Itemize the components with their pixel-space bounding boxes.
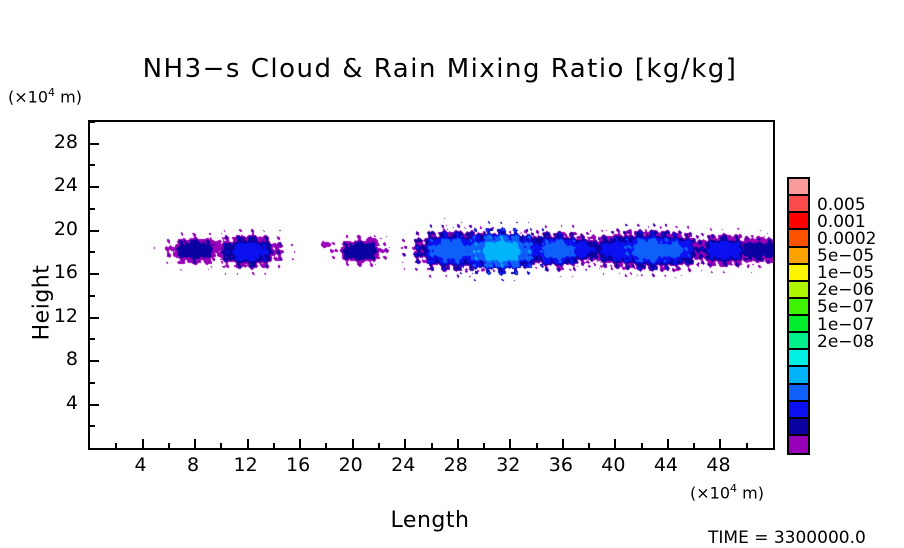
x-tick-label: 44: [646, 454, 686, 476]
x-tick: [614, 439, 616, 448]
y-tick: [90, 360, 99, 362]
x-tick-minor: [746, 443, 748, 448]
colorbar-band: [789, 367, 808, 384]
x-tick: [142, 439, 144, 448]
colorbar-band: [789, 230, 808, 247]
y-tick-label: 4: [32, 392, 78, 414]
x-tick-minor: [325, 443, 327, 448]
x-tick-minor: [115, 443, 117, 448]
x-tick-label: 48: [698, 454, 738, 476]
x-tick-minor: [378, 443, 380, 448]
y-tick-label: 12: [32, 305, 78, 327]
colorbar-band: [789, 419, 808, 436]
x-tick: [194, 439, 196, 448]
x-tick-minor: [588, 443, 590, 448]
y-tick-minor: [90, 338, 95, 340]
y-tick-minor: [90, 425, 95, 427]
x-tick-minor: [431, 443, 433, 448]
x-tick-minor: [693, 443, 695, 448]
colorbar-band: [789, 402, 808, 419]
x-tick-label: 8: [173, 454, 213, 476]
x-tick-minor: [483, 443, 485, 448]
colorbar-band: [789, 333, 808, 350]
colorbar-band: [789, 282, 808, 299]
colorbar-band: [789, 213, 808, 230]
y-tick-minor: [90, 295, 95, 297]
x-axis-title: Length: [330, 508, 530, 533]
colorbar-band: [789, 179, 808, 196]
colorbar-band: [789, 350, 808, 367]
y-tick-label: 16: [32, 261, 78, 283]
y-tick: [90, 317, 99, 319]
x-tick-minor: [641, 443, 643, 448]
y-tick-minor: [90, 251, 95, 253]
y-tick-minor: [90, 164, 95, 166]
time-annotation: TIME = 3300000.0: [708, 528, 866, 548]
x-tick: [247, 439, 249, 448]
x-tick-label: 4: [121, 454, 161, 476]
page-title: NH3−s Cloud & Rain Mixing Ratio [kg/kg]: [0, 54, 880, 84]
y-tick: [90, 273, 99, 275]
x-tick: [404, 439, 406, 448]
x-tick-label: 24: [383, 454, 423, 476]
x-tick-minor: [168, 443, 170, 448]
x-tick: [562, 439, 564, 448]
colorbar-band: [789, 436, 808, 453]
y-tick-minor: [90, 208, 95, 210]
x-tick: [299, 439, 301, 448]
y-tick: [90, 230, 99, 232]
y-tick-label: 20: [32, 218, 78, 240]
x-tick-minor: [536, 443, 538, 448]
x-tick-minor: [220, 443, 222, 448]
y-tick-minor: [90, 382, 95, 384]
y-tick-label: 24: [32, 174, 78, 196]
x-tick-label: 28: [436, 454, 476, 476]
y-tick: [90, 186, 99, 188]
plot-area: [88, 120, 775, 450]
x-tick: [667, 439, 669, 448]
colorbar-band: [789, 196, 808, 213]
x-tick-label: 32: [488, 454, 528, 476]
contour-field: [90, 122, 773, 448]
x-tick-label: 20: [331, 454, 371, 476]
colorbar-band: [789, 265, 808, 282]
x-tick-label: 40: [593, 454, 633, 476]
x-tick-label: 16: [278, 454, 318, 476]
y-tick-label: 8: [32, 348, 78, 370]
x-tick-label: 12: [226, 454, 266, 476]
x-tick: [719, 439, 721, 448]
y-axis-unit-label: (×104 m): [8, 86, 82, 106]
y-tick: [90, 143, 99, 145]
colorbar-band: [789, 385, 808, 402]
colorbar-label: 2e−08: [817, 332, 874, 352]
colorbar-band: [789, 316, 808, 333]
x-tick: [509, 439, 511, 448]
y-tick: [90, 404, 99, 406]
colorbar-band: [789, 299, 808, 316]
x-tick-minor: [273, 443, 275, 448]
colorbar-band: [789, 248, 808, 265]
y-tick-minor: [90, 121, 95, 123]
x-tick: [352, 439, 354, 448]
x-axis-unit-label: (×104 m): [690, 482, 764, 502]
x-tick-label: 36: [541, 454, 581, 476]
y-tick-label: 28: [32, 131, 78, 153]
x-tick: [457, 439, 459, 448]
colorbar: [787, 177, 810, 455]
